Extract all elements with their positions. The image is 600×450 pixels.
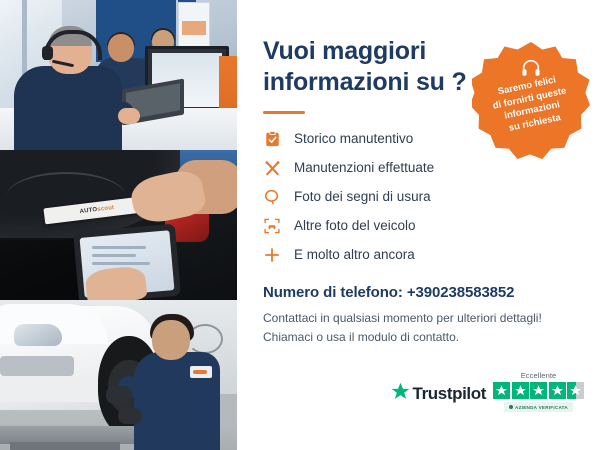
list-item-label: E molto altro ancora <box>294 247 415 263</box>
trustpilot-stars <box>493 382 584 399</box>
crossed-tools-icon <box>263 159 281 177</box>
trustpilot-star-icon <box>391 382 410 406</box>
contact-subtext: Contattaci in qualsiasi momento per ulte… <box>263 309 563 346</box>
tablet-screen-line <box>92 254 136 257</box>
headline-line-2: informazioni su ? <box>263 68 467 96</box>
verified-check-icon <box>509 405 513 409</box>
headline-line-1: Vuoi maggiori <box>263 37 426 65</box>
contact-subtext-line-2: Chiamaci o usa il modulo di contatto. <box>263 328 563 347</box>
phone-number[interactable]: +390238583852 <box>407 284 515 301</box>
callout-badge-text: Saremo felici di fornirti queste informa… <box>481 71 581 139</box>
title-divider <box>263 111 305 114</box>
page-title: Vuoi maggiori informazioni su ? <box>263 36 473 97</box>
star-box-half <box>567 382 584 399</box>
headset-earcup <box>42 46 53 60</box>
agent-one-hand <box>118 108 140 124</box>
mechanic-glove-lower <box>118 408 142 424</box>
list-item-label: Storico manutentivo <box>294 131 413 147</box>
clipboard-check-icon <box>263 130 281 148</box>
uniform-logo-patch <box>190 366 212 378</box>
star-box <box>549 382 566 399</box>
headset-icon <box>521 59 541 77</box>
mechanic-head <box>152 320 190 360</box>
verified-company-label: AZIENDA VERIFICATA <box>515 405 568 410</box>
agent-two-head <box>108 34 134 62</box>
tablet-screen-line <box>92 262 150 265</box>
phone-number-line: Numero di telefono: +390238583852 <box>263 284 574 301</box>
star-box <box>493 382 510 399</box>
list-item: Foto dei segni di usura <box>263 188 523 206</box>
star-box <box>512 382 529 399</box>
list-item: Manutenzioni effettuate <box>263 159 523 177</box>
feature-list: Storico manutentivo Manutenzioni effettu… <box>263 130 523 264</box>
workshop-mechanic-photo <box>0 300 237 450</box>
star-box <box>530 382 547 399</box>
trustpilot-score-block: Eccellente AZIENDA VERIFICATA <box>493 371 584 412</box>
car-grille <box>0 356 74 376</box>
list-item-label: Manutenzioni effettuate <box>294 160 434 176</box>
trustpilot-logo: Trustpilot <box>391 371 486 406</box>
car-headlight <box>14 324 62 346</box>
car-lift-base <box>10 442 120 450</box>
photo-column: AUTOscout <box>0 0 237 450</box>
tablet-screen-line <box>92 246 146 249</box>
strip-brand-text: AUTOscout <box>79 205 114 215</box>
list-item: Storico manutentivo <box>263 130 523 148</box>
list-item: E molto altro ancora <box>263 246 523 264</box>
contact-subtext-line-1: Contattaci in qualsiasi momento per ulte… <box>263 309 563 328</box>
list-item: Altre foto del veicolo <box>263 217 523 235</box>
call-center-agents-photo <box>0 0 237 150</box>
trustpilot-rating[interactable]: Trustpilot Eccellente AZIENDA VERIFICATA <box>391 371 584 412</box>
phone-label: Numero di telefono: <box>263 284 403 301</box>
plus-icon <box>263 246 281 264</box>
list-item-label: Altre foto del veicolo <box>294 218 416 234</box>
vehicle-inspection-photo: AUTOscout <box>0 150 237 300</box>
list-item-label: Foto dei segni di usura <box>294 189 431 205</box>
mechanic-glove-upper <box>106 386 132 404</box>
promo-banner: AUTOscout <box>0 0 600 450</box>
magnifier-icon <box>263 188 281 206</box>
content-panel: Vuoi maggiori informazioni su ? Saremo f… <box>237 0 600 450</box>
trustpilot-rating-label: Eccellente <box>521 371 557 380</box>
photo-frame-car-icon <box>263 217 281 235</box>
trustpilot-wordmark: Trustpilot <box>413 384 486 404</box>
verified-company-badge: AZIENDA VERIFICATA <box>504 402 573 412</box>
